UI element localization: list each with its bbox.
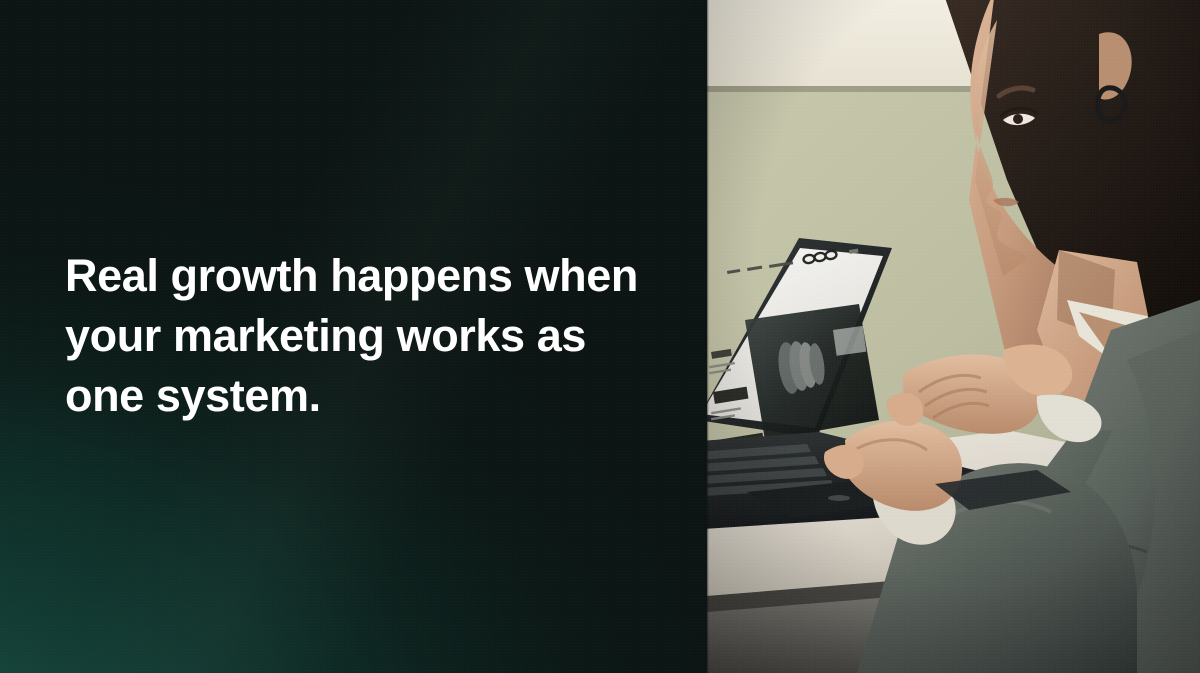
photo-vignette [707, 0, 1200, 673]
photo-illustration [707, 0, 1200, 673]
hero-headline: Real growth happens when your marketing … [65, 246, 645, 426]
hero-banner: Real growth happens when your marketing … [0, 0, 1200, 673]
left-content-panel: Real growth happens when your marketing … [0, 0, 707, 673]
hero-photo [707, 0, 1200, 673]
